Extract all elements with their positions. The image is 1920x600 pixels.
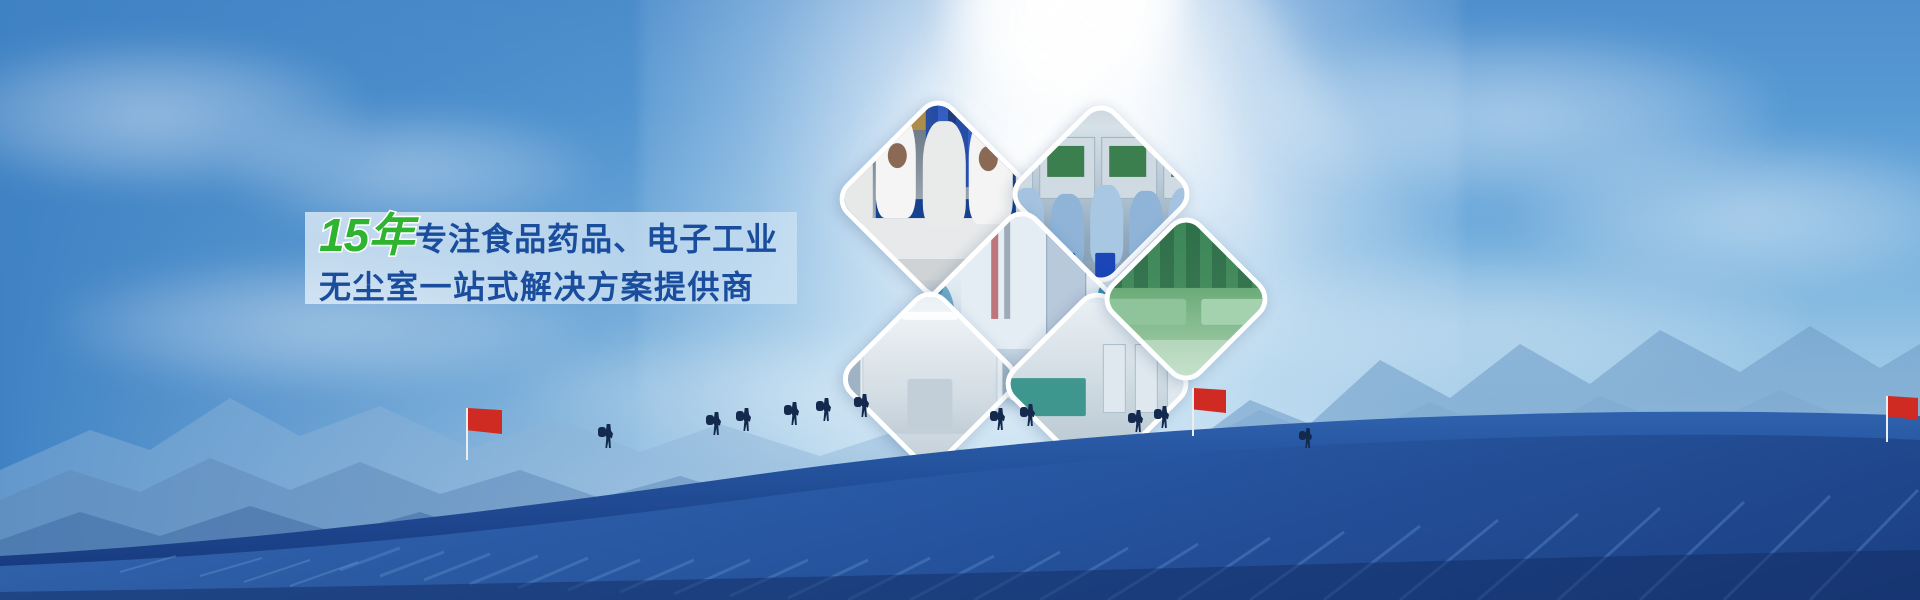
climber-backpack <box>816 401 824 411</box>
hero-banner: 15年 专注食品药品、电子工业 无尘室一站式解决方案提供商 <box>0 0 1920 600</box>
headline-line-1: 15年 专注食品药品、电子工业 <box>319 210 797 260</box>
headline-line-1-text: 专注食品药品、电子工业 <box>415 222 778 257</box>
headline-panel: 15年 专注食品药品、电子工业 无尘室一站式解决方案提供商 <box>305 212 797 304</box>
climber-backpack <box>990 411 998 421</box>
climber-backpack <box>784 405 792 415</box>
climber-backpack <box>1299 431 1306 440</box>
climber-backpack <box>1128 413 1136 423</box>
climber-backpack <box>598 427 606 437</box>
climber-backpack <box>736 411 744 421</box>
headline-line-2-text: 无尘室一站式解决方案提供商 <box>319 262 797 308</box>
climber-backpack <box>1020 407 1028 417</box>
climber-backpack <box>854 397 862 407</box>
snow-ridge-foreground <box>0 370 1920 600</box>
years-badge: 15年 <box>319 211 413 261</box>
climber-backpack <box>706 415 714 425</box>
climber-backpack <box>1154 409 1162 419</box>
